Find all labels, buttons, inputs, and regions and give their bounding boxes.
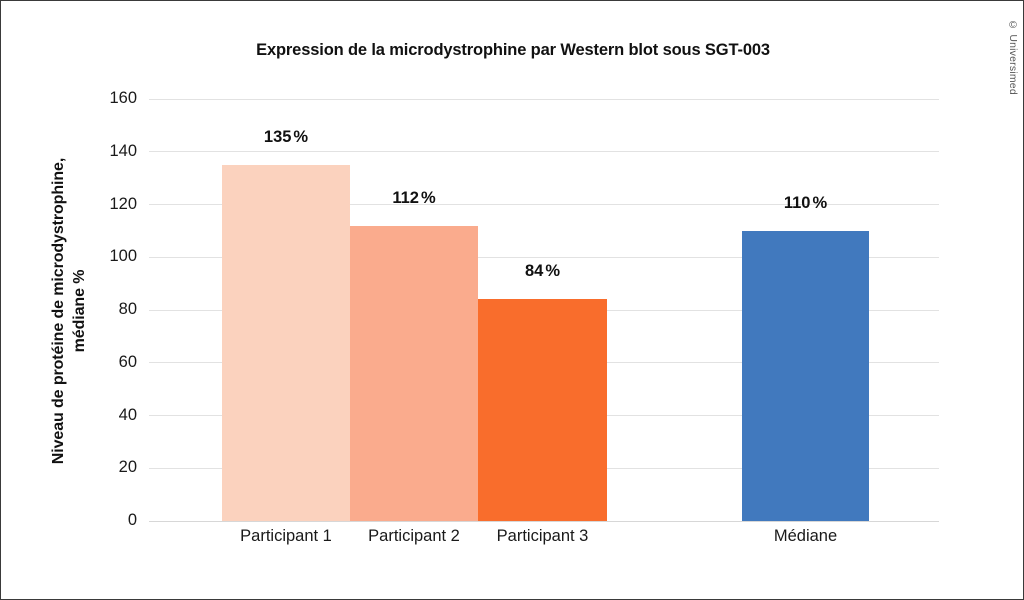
bar-4[interactable] [742, 231, 869, 521]
chart-figure: Expression de la microdystrophine par We… [0, 0, 1024, 600]
y-axis-tick-label: 100 [91, 248, 137, 265]
y-axis-title-line2: médiane % [71, 270, 88, 353]
copyright-label: © Universimed [1007, 19, 1019, 95]
bar-value-label-3: 84% [478, 262, 607, 281]
bar-value-label-4: 110% [742, 194, 869, 213]
x-axis-tick-label-4: Médiane [730, 527, 881, 546]
x-axis-tick-label-3: Participant 3 [466, 527, 619, 546]
y-axis-title-line1: Niveau de protéine de microdystrophine, [50, 158, 67, 464]
bar-value-number: 84 [525, 262, 543, 280]
y-axis-title: Niveau de protéine de microdystrophine, … [48, 99, 92, 523]
y-axis-tick-label: 60 [91, 354, 137, 371]
bar-3[interactable] [478, 299, 607, 521]
plot-area: 160140120100806040200135%Participant 111… [149, 99, 939, 521]
y-axis-tick-label: 0 [91, 512, 137, 529]
y-axis-tick-label: 160 [91, 90, 137, 107]
bar-1[interactable] [222, 165, 350, 521]
y-axis-tick-label: 140 [91, 143, 137, 160]
page-title: Expression de la microdystrophine par We… [1, 41, 1024, 60]
bar-value-unit: % [293, 128, 308, 146]
bar-value-label-1: 135% [222, 128, 350, 147]
bar-2[interactable] [350, 226, 478, 521]
gridline-160 [149, 99, 939, 100]
bar-value-unit: % [545, 262, 560, 280]
bar-value-label-2: 112% [350, 189, 478, 208]
y-axis-tick-label: 120 [91, 196, 137, 213]
gridline-140 [149, 151, 939, 152]
y-axis-tick-label: 40 [91, 407, 137, 424]
y-axis-tick-label: 20 [91, 459, 137, 476]
bar-value-unit: % [421, 189, 436, 207]
bar-value-number: 112 [392, 189, 419, 207]
y-axis-tick-label: 80 [91, 301, 137, 318]
bar-value-unit: % [812, 194, 827, 212]
bar-value-number: 110 [784, 194, 811, 212]
bar-value-number: 135 [264, 128, 292, 146]
